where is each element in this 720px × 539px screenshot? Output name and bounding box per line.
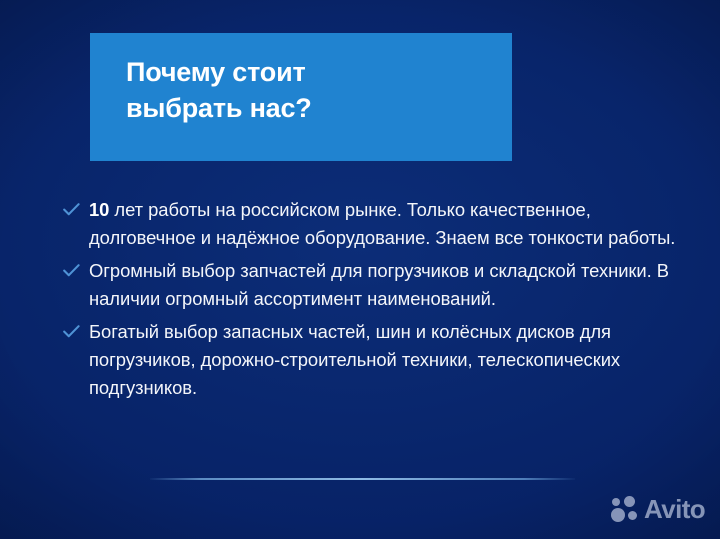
title-banner: Почему стоит выбрать нас? [90,33,512,161]
list-item-text: Богатый выбор запасных частей, шин и кол… [89,321,620,397]
check-icon [63,318,81,344]
avito-wordmark: Avito [644,496,705,523]
list-item: 10 лет работы на российском рынке. Тольк… [62,196,682,251]
slide-canvas: Почему стоит выбрать нас? 10 лет работы … [0,0,720,539]
list-item: Огромный выбор запчастей для погрузчиков… [62,257,682,312]
check-icon [63,196,81,222]
list-item-text: лет работы на российском рынке. Только к… [89,199,675,248]
list-item-text: Огромный выбор запчастей для погрузчиков… [89,260,669,309]
list-item-lead: 10 [89,199,109,220]
slide-title: Почему стоит выбрать нас? [126,55,498,126]
list-item: Богатый выбор запасных частей, шин и кол… [62,318,682,401]
avito-watermark: Avito [611,496,705,523]
divider [150,478,575,480]
benefits-list: 10 лет работы на российском рынке. Тольк… [62,196,682,407]
check-icon [63,257,81,283]
avito-dots-icon [611,496,641,523]
